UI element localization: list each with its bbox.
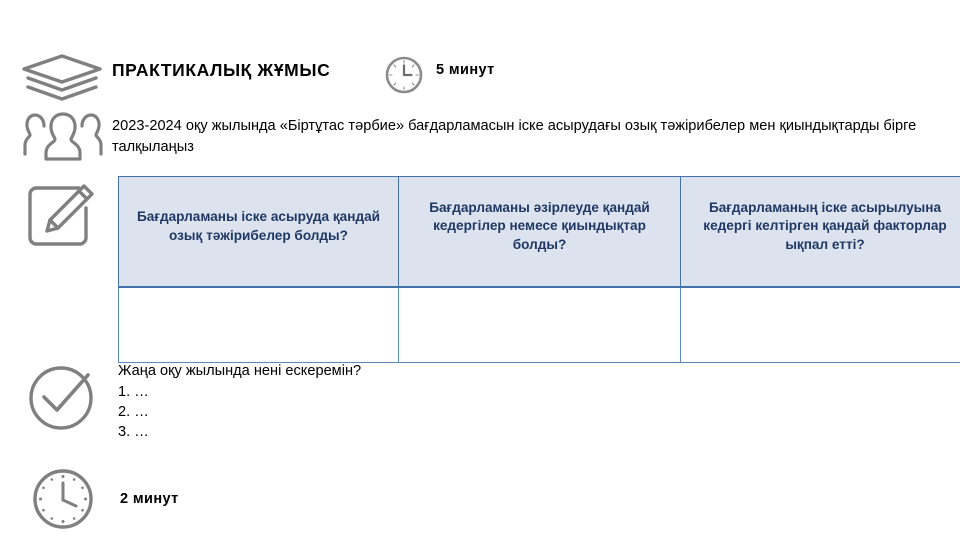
- check-circle-icon: [24, 358, 102, 436]
- table-cell-factors[interactable]: [681, 287, 960, 363]
- reflection-block: Жаңа оқу жылында нені ескеремін? 1. … 2.…: [118, 361, 638, 442]
- table-head: Бағдарламаны іске асыруда қандай озық тә…: [119, 177, 960, 288]
- people-group-icon: [22, 110, 104, 164]
- table-row: [119, 287, 960, 363]
- clock-icon: [30, 466, 96, 532]
- footer-duration-label: 2 минут: [120, 491, 179, 507]
- table-column-header-factors: Бағдарламаның іске асырылуына кедергі ке…: [681, 177, 960, 288]
- instruction-row: 2023-2024 оқу жылында «Біртұтас тәрбие» …: [18, 110, 948, 166]
- table-cell-barriers[interactable]: [399, 287, 681, 363]
- table-column-header-barriers: Бағдарламаны әзірлеуде қандай кедергілер…: [399, 177, 681, 288]
- clock-icon: [383, 54, 425, 96]
- layers-icon: [18, 52, 106, 104]
- table-body: [119, 287, 960, 363]
- list-item: 2. …: [118, 402, 638, 422]
- reflection-question: Жаңа оқу жылында нені ескеремін?: [118, 361, 638, 381]
- table-column-header-practices: Бағдарламаны іске асыруда қандай озық тә…: [119, 177, 399, 288]
- instruction-text: 2023-2024 оқу жылында «Біртұтас тәрбие» …: [112, 116, 942, 158]
- table-header-row: Бағдарламаны іске асыруда қандай озық тә…: [119, 177, 960, 288]
- list-item: 3. …: [118, 422, 638, 442]
- practice-table: Бағдарламаны іске асыруда қандай озық тә…: [118, 176, 960, 363]
- pencil-edit-icon: [22, 178, 100, 254]
- page-title: ПРАКТИКАЛЫҚ ЖҰМЫС: [112, 60, 330, 81]
- table-cell-practices[interactable]: [119, 287, 399, 363]
- reflection-list: 1. … 2. … 3. …: [118, 382, 638, 442]
- slide-canvas: ПРАКТИКАЛЫҚ ЖҰМЫС: [0, 0, 960, 540]
- list-item: 1. …: [118, 382, 638, 402]
- header-row: ПРАКТИКАЛЫҚ ЖҰМЫС: [18, 48, 938, 106]
- header-duration-label: 5 минут: [436, 62, 495, 78]
- practice-table-wrapper: Бағдарламаны іске асыруда қандай озық тә…: [118, 176, 918, 363]
